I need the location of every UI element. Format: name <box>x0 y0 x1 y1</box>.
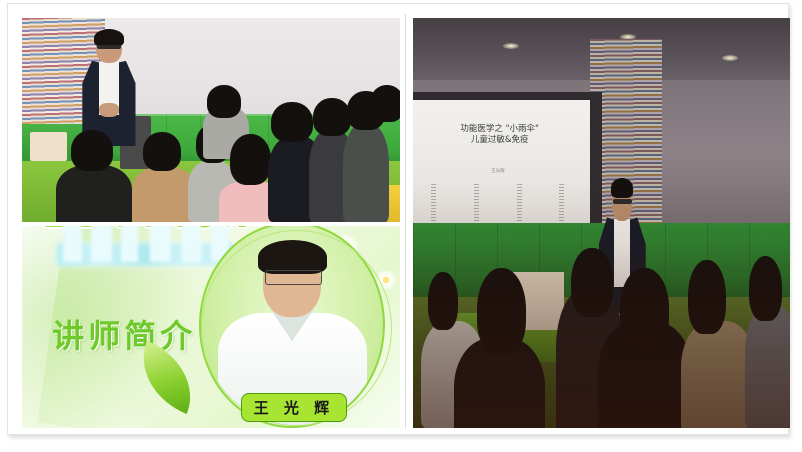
audience-body <box>132 167 196 222</box>
blur-segment <box>150 226 171 262</box>
blur-segment <box>63 226 82 262</box>
audience-head <box>749 256 783 322</box>
presenter-glasses <box>613 199 632 204</box>
slide-title-line2: 儿童过敏&免疫 <box>413 135 586 146</box>
lecture-audience-photo <box>22 18 400 222</box>
audience-body <box>343 124 388 222</box>
slide-text-column <box>559 184 564 226</box>
ceiling-light <box>503 43 519 49</box>
audience-head <box>207 85 241 118</box>
slide-presenter: 王光辉 <box>413 168 590 174</box>
slide-body-text <box>431 184 564 226</box>
projector-lecture-photo: 功能医学之 "小雨伞" 儿童过敏&免疫 王光辉 <box>413 18 790 428</box>
instructor-profile-poster: BBUnion 讲师简介 王 光 辉 <box>22 226 400 428</box>
blur-segment <box>182 226 201 262</box>
presenter-hands <box>99 103 120 117</box>
audience-head <box>477 268 526 354</box>
presenter-glasses <box>97 45 121 50</box>
audience-head <box>370 85 400 122</box>
audience-head <box>571 248 612 318</box>
ceiling-light <box>722 55 738 61</box>
collage-page: BBUnion 讲师简介 王 光 辉 <box>0 0 802 452</box>
blur-segment <box>121 226 137 262</box>
slide-title-line1: 功能医学之 "小雨伞" <box>413 124 586 135</box>
instructor-name-badge: 王 光 辉 <box>241 393 347 422</box>
slide-text-column <box>431 184 436 226</box>
slide-text-column <box>474 184 479 226</box>
audience-body <box>56 165 132 222</box>
audience-head <box>428 272 458 329</box>
audience-head <box>313 98 351 137</box>
slide-text-column <box>517 184 522 226</box>
audience-head <box>71 130 113 171</box>
audience-body <box>745 305 790 428</box>
audience-head <box>230 134 272 185</box>
audience-head <box>688 260 726 334</box>
poster-title: 讲师简介 <box>52 311 196 357</box>
slide-title: 功能医学之 "小雨伞" 儿童过敏&免疫 <box>413 124 586 146</box>
audience-head <box>143 132 181 171</box>
presenter-hair <box>611 178 634 198</box>
projector-screen: 功能医学之 "小雨伞" 儿童过敏&免疫 王光辉 <box>413 100 590 231</box>
wooden-stool <box>30 132 68 161</box>
audience-head <box>271 102 313 143</box>
column-divider <box>405 14 406 428</box>
poster-banner-blurred-subtitle <box>56 243 234 266</box>
audience-head <box>620 268 669 350</box>
blur-segment <box>91 226 112 262</box>
